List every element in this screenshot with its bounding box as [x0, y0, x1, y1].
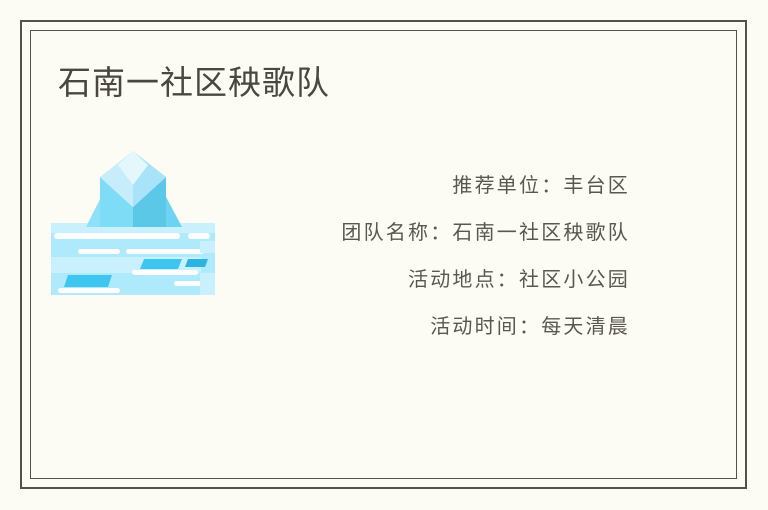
info-value: 石南一社区秧歌队 [452, 222, 630, 244]
info-line-team-name: 团队名称：石南一社区秧歌队 [180, 210, 630, 257]
info-value: 每天清晨 [541, 316, 630, 338]
info-line-time: 活动时间：每天清晨 [180, 304, 630, 351]
info-label: 推荐单位： [452, 175, 563, 197]
info-line-recommender: 推荐单位：丰台区 [180, 163, 630, 210]
info-block: 推荐单位：丰台区 团队名称：石南一社区秧歌队 活动地点：社区小公园 活动时间：每… [180, 163, 630, 351]
info-label: 活动地点： [408, 269, 519, 291]
page-title: 石南一社区秧歌队 [58, 62, 330, 104]
poster-card: 石南一社区秧歌队 [0, 0, 768, 510]
info-value: 丰台区 [563, 175, 630, 197]
info-value: 社区小公园 [519, 269, 630, 291]
info-line-location: 活动地点：社区小公园 [180, 257, 630, 304]
info-label: 活动时间： [430, 316, 541, 338]
info-label: 团队名称： [341, 222, 452, 244]
